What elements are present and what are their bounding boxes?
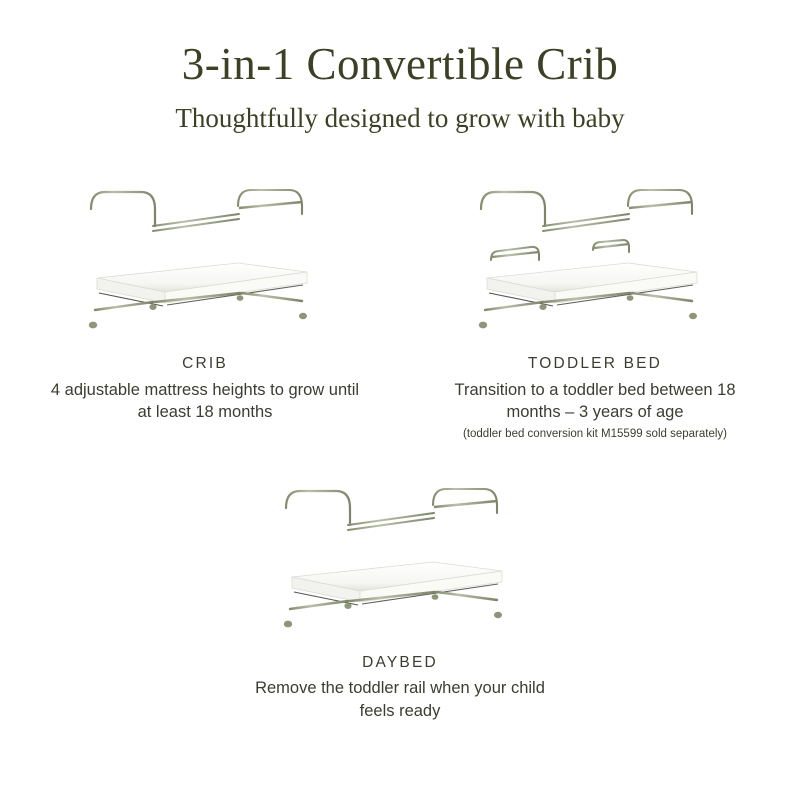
- daybed-illustration: [270, 451, 530, 646]
- header: 3-in-1 Convertible Crib Thoughtfully des…: [0, 0, 800, 134]
- caption-description: 4 adjustable mattress heights to grow un…: [45, 379, 365, 425]
- panel-crib: CRIB 4 adjustable mattress heights to gr…: [40, 152, 370, 424]
- caption-daybed: DAYBED Remove the toddler rail when your…: [240, 652, 560, 723]
- caption-label: TODDLER BED: [435, 353, 755, 375]
- caption-crib: CRIB 4 adjustable mattress heights to gr…: [45, 353, 365, 424]
- panel-row-bottom: DAYBED Remove the toddler rail when your…: [0, 451, 800, 723]
- infographic-page: 3-in-1 Convertible Crib Thoughtfully des…: [0, 0, 800, 800]
- caption-label: DAYBED: [240, 652, 560, 674]
- caption-fine-print: (toddler bed conversion kit M15599 sold …: [435, 427, 755, 443]
- caption-toddler-bed: TODDLER BED Transition to a toddler bed …: [435, 353, 755, 443]
- toddler-bed-illustration: [465, 152, 725, 347]
- panel-row-top: CRIB 4 adjustable mattress heights to gr…: [0, 152, 800, 443]
- caption-description: Transition to a toddler bed between 18 m…: [435, 379, 755, 425]
- caption-label: CRIB: [45, 353, 365, 375]
- crib-illustration: [75, 152, 335, 347]
- page-subtitle: Thoughtfully designed to grow with baby: [0, 102, 800, 134]
- panel-toddler-bed: TODDLER BED Transition to a toddler bed …: [430, 152, 760, 443]
- page-title: 3-in-1 Convertible Crib: [0, 40, 800, 90]
- caption-description: Remove the toddler rail when your child …: [240, 677, 560, 723]
- panel-daybed: DAYBED Remove the toddler rail when your…: [235, 451, 565, 723]
